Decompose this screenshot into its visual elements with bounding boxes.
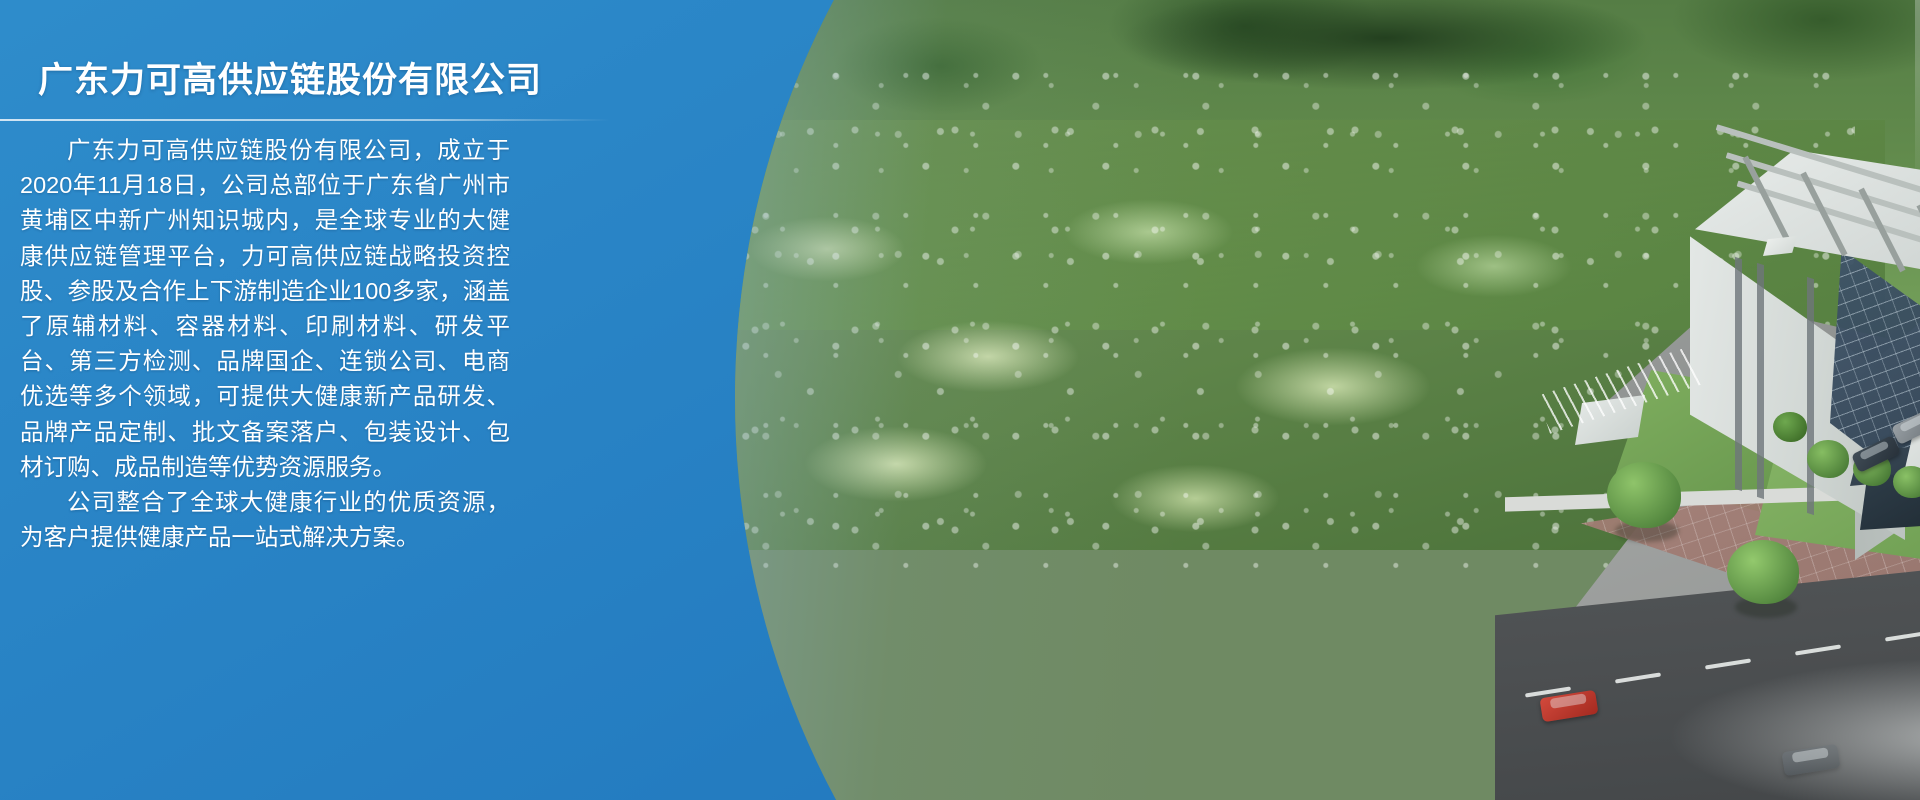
text-panel: 广东力可高供应链股份有限公司 广东力可高供应链股份有限公司，成立于2020年11… bbox=[0, 0, 640, 800]
description-paragraph-1: 广东力可高供应链股份有限公司，成立于2020年11月18日，公司总部位于广东省广… bbox=[20, 133, 510, 485]
page-title: 广东力可高供应链股份有限公司 bbox=[38, 52, 542, 103]
company-description: 广东力可高供应链股份有限公司，成立于2020年11月18日，公司总部位于广东省广… bbox=[20, 133, 510, 555]
industrial-park-photo bbox=[735, 0, 1920, 800]
title-divider bbox=[0, 119, 610, 121]
banner-stage: 广东力可高供应链股份有限公司 广东力可高供应链股份有限公司，成立于2020年11… bbox=[0, 0, 1920, 800]
photo-edge-shading bbox=[735, 0, 1920, 800]
description-paragraph-2: 公司整合了全球大健康行业的优质资源，为客户提供健康产品一站式解决方案。 bbox=[20, 485, 510, 555]
